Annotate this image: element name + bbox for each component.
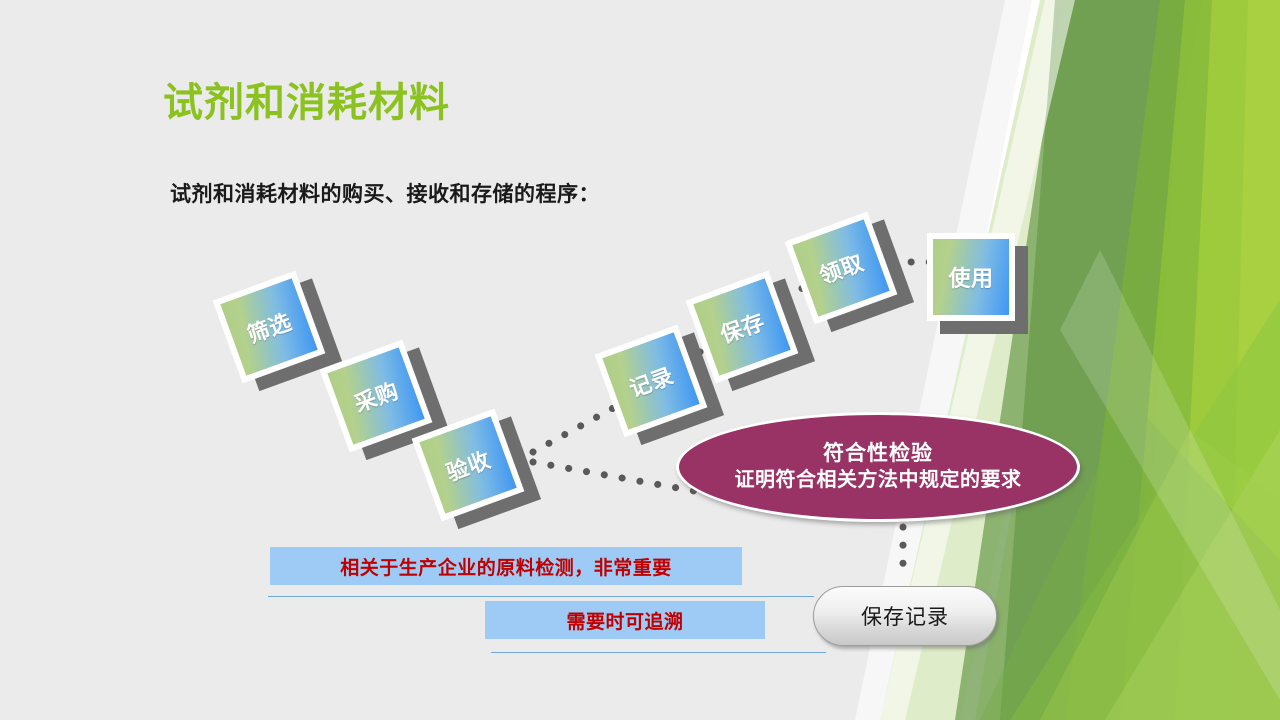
callout-text: 相关于生产企业的原料检测，非常重要 xyxy=(340,553,672,580)
connector-acceptance-compliance xyxy=(533,462,700,492)
step-collection[interactable]: 领取 xyxy=(785,212,898,325)
callout-raw-material[interactable]: 相关于生产企业的原料检测，非常重要 xyxy=(270,547,742,585)
step-use[interactable]: 使用 xyxy=(927,233,1015,321)
ellipse-description: 证明符合相关方法中规定的要求 xyxy=(735,468,1022,493)
slide-canvas: 试剂和消耗材料 试剂和消耗材料的购买、接收和存储的程序： 筛选 xyxy=(0,0,1280,720)
callout-underline-traceability xyxy=(491,652,826,653)
save-records-label: 保存记录 xyxy=(861,601,949,631)
callout-text: 需要时可追溯 xyxy=(566,607,683,634)
step-screening[interactable]: 筛选 xyxy=(213,271,326,384)
page-subtitle: 试剂和消耗材料的购买、接收和存储的程序： xyxy=(170,178,600,208)
step-label: 筛选 xyxy=(242,304,295,349)
step-label: 保存 xyxy=(715,304,768,349)
page-title: 试剂和消耗材料 xyxy=(163,70,450,128)
compliance-ellipse[interactable]: 符合性检验 证明符合相关方法中规定的要求 xyxy=(676,412,1080,522)
callout-traceability[interactable]: 需要时可追溯 xyxy=(485,601,765,639)
step-label: 领取 xyxy=(814,245,867,290)
connector-acceptance-record xyxy=(533,406,617,452)
ellipse-body: 符合性检验 证明符合相关方法中规定的要求 xyxy=(676,412,1080,522)
save-records-button[interactable]: 保存记录 xyxy=(813,586,997,646)
callout-underline-raw-material xyxy=(268,596,814,597)
step-label: 采购 xyxy=(349,373,402,418)
tile-face: 使用 xyxy=(927,233,1015,321)
step-label: 记录 xyxy=(624,358,677,403)
ellipse-title: 符合性检验 xyxy=(823,441,933,467)
step-label: 验收 xyxy=(441,442,494,487)
step-label: 使用 xyxy=(948,261,993,293)
